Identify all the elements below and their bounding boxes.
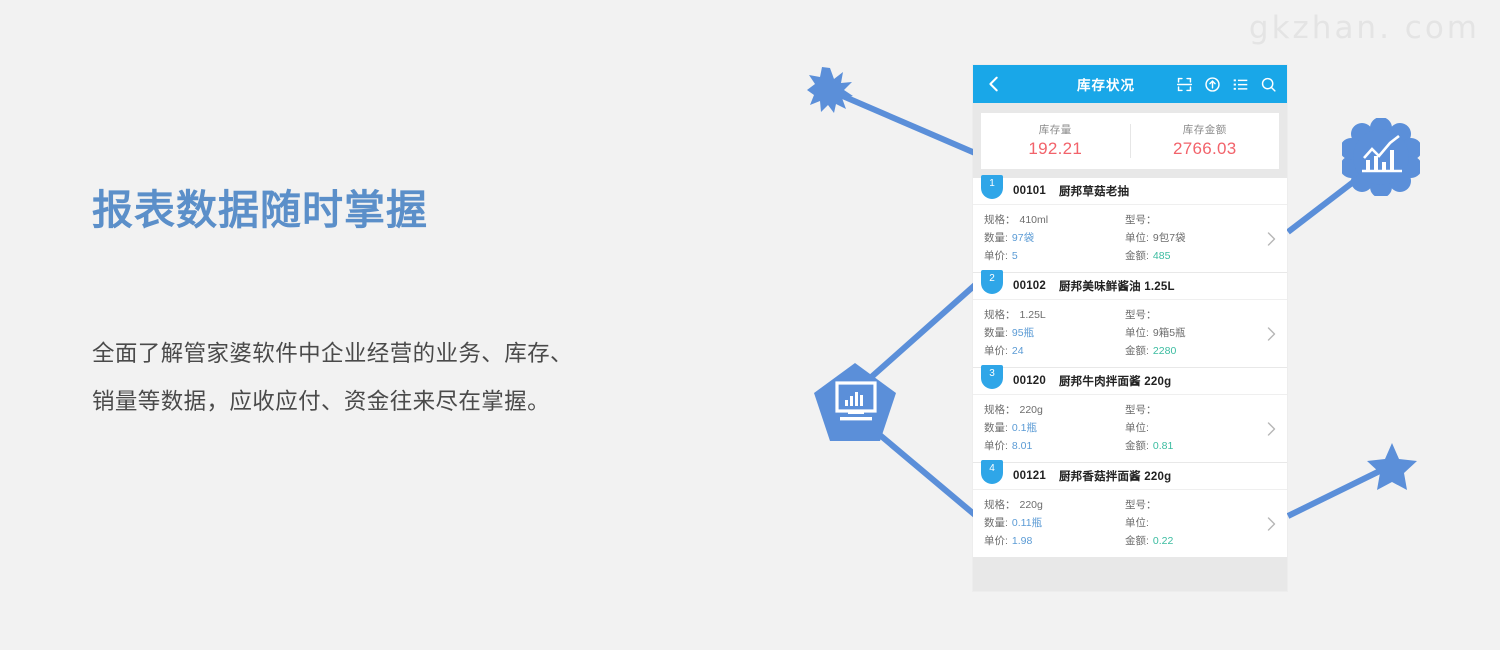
field-amount: 金额: 0.81 xyxy=(1125,437,1255,455)
star-icon xyxy=(1366,440,1418,492)
item-code: 00120 xyxy=(1013,375,1046,387)
scan-icon[interactable] xyxy=(1176,76,1193,93)
field-label: 单位: xyxy=(1125,419,1149,437)
index-badge: 1 xyxy=(981,175,1003,199)
field-value: 0.11瓶 xyxy=(1012,514,1042,532)
field-value: 1.98 xyxy=(1012,532,1032,550)
index-badge: 4 xyxy=(981,460,1003,484)
item-name: 厨邦香菇拌面酱 220g xyxy=(1059,468,1171,484)
chevron-right-icon[interactable] xyxy=(1267,327,1276,341)
field-label: 金额: xyxy=(1125,532,1149,550)
monitor-chart-icon xyxy=(814,363,896,443)
field-spec: 规格： 410ml xyxy=(973,211,1125,229)
field-label: 数量: xyxy=(984,229,1008,247)
field-model: 型号： xyxy=(1125,306,1255,324)
flower-badge xyxy=(1342,118,1420,196)
field-unit: 单位: 9包7袋 xyxy=(1125,229,1255,247)
field-value: 410ml xyxy=(1020,211,1049,229)
summary-cell-amount: 库存金额 2766.03 xyxy=(1131,123,1280,160)
inventory-list: 1 00101 厨邦草菇老抽 规格： 410ml 型号： xyxy=(973,178,1287,557)
field-value: 0.22 xyxy=(1153,532,1173,550)
list-item[interactable]: 1 00101 厨邦草菇老抽 规格： 410ml 型号： xyxy=(973,178,1287,272)
field-label: 单价: xyxy=(984,247,1008,265)
field-label: 规格： xyxy=(984,211,1016,229)
field-value: 9包7袋 xyxy=(1153,229,1186,247)
field-qty: 数量: 95瓶 xyxy=(973,324,1125,342)
list-item-header: 4 00121 厨邦香菇拌面酱 220g xyxy=(973,463,1287,490)
search-icon[interactable] xyxy=(1260,76,1277,93)
field-unit: 单位: 9箱5瓶 xyxy=(1125,324,1255,342)
line-bar-chart-icon xyxy=(1342,118,1420,196)
phone-mockup: 库存状况 xyxy=(973,65,1287,591)
headline: 报表数据随时掌握 xyxy=(92,186,652,235)
field-value: 24 xyxy=(1012,342,1024,360)
field-label: 单价: xyxy=(984,342,1008,360)
field-unit: 单位: xyxy=(1125,514,1255,532)
list-item-header: 3 00120 厨邦牛肉拌面酱 220g xyxy=(973,368,1287,395)
pentagon-badge xyxy=(814,363,896,443)
field-value: 220g xyxy=(1020,496,1043,514)
field-label: 规格： xyxy=(984,401,1016,419)
item-name: 厨邦牛肉拌面酱 220g xyxy=(1059,373,1171,389)
field-label: 金额: xyxy=(1125,247,1149,265)
index-badge: 2 xyxy=(981,270,1003,294)
app-header: 库存状况 xyxy=(973,65,1287,103)
field-value: 97袋 xyxy=(1012,229,1034,247)
field-value: 0.1瓶 xyxy=(1012,419,1037,437)
field-value: 220g xyxy=(1020,401,1043,419)
detail-row: 数量: 0.11瓶 单位: xyxy=(973,514,1287,532)
field-label: 单位: xyxy=(1125,229,1149,247)
marketing-copy: 报表数据随时掌握 全面了解管家婆软件中企业经营的业务、库存、销量等数据，应收应付… xyxy=(92,186,652,235)
list-item-body: 规格： 220g 型号： 数量: 0.11瓶 xyxy=(973,490,1287,557)
detail-row: 单价: 1.98 金额: 0.22 xyxy=(973,532,1287,550)
field-spec: 规格： 220g xyxy=(973,401,1125,419)
field-model: 型号： xyxy=(1125,401,1255,419)
field-qty: 数量: 0.11瓶 xyxy=(973,514,1125,532)
summary-value: 192.21 xyxy=(981,138,1130,160)
field-value: 8.01 xyxy=(1012,437,1032,455)
field-label: 单价: xyxy=(984,532,1008,550)
item-name: 厨邦草菇老抽 xyxy=(1059,183,1129,199)
connector-line-1 xyxy=(838,94,975,153)
field-label: 数量: xyxy=(984,324,1008,342)
field-price: 单价: 1.98 xyxy=(973,532,1125,550)
field-value: 485 xyxy=(1153,247,1171,265)
list-item-body: 规格： 410ml 型号： 数量: 97袋 xyxy=(973,205,1287,272)
summary-cell-qty: 库存量 192.21 xyxy=(981,123,1130,160)
field-label: 数量: xyxy=(984,514,1008,532)
detail-row: 单价: 8.01 金额: 0.81 xyxy=(973,437,1287,455)
detail-row: 单价: 5 金额: 485 xyxy=(973,247,1287,265)
item-code: 00121 xyxy=(1013,470,1046,482)
field-value: 0.81 xyxy=(1153,437,1173,455)
starburst-icon xyxy=(806,66,854,114)
star-badge xyxy=(1366,440,1418,492)
field-value: 5 xyxy=(1012,247,1018,265)
field-label: 型号： xyxy=(1125,401,1157,419)
summary-label: 库存量 xyxy=(981,123,1130,138)
field-amount: 金额: 485 xyxy=(1125,247,1255,265)
field-spec: 规格： 1.25L xyxy=(973,306,1125,324)
detail-row: 数量: 0.1瓶 单位: xyxy=(973,419,1287,437)
field-label: 型号： xyxy=(1125,496,1157,514)
list-item-header: 2 00102 厨邦美味鲜酱油 1.25L xyxy=(973,273,1287,300)
back-button[interactable] xyxy=(983,73,1005,95)
list-item-body: 规格： 1.25L 型号： 数量: 95瓶 xyxy=(973,300,1287,367)
field-label: 金额: xyxy=(1125,342,1149,360)
field-spec: 规格： 220g xyxy=(973,496,1125,514)
field-model: 型号： xyxy=(1125,496,1255,514)
field-qty: 数量: 0.1瓶 xyxy=(973,419,1125,437)
header-actions xyxy=(1176,76,1277,93)
field-label: 单位: xyxy=(1125,324,1149,342)
detail-row: 数量: 97袋 单位: 9包7袋 xyxy=(973,229,1287,247)
summary-value: 2766.03 xyxy=(1131,138,1280,160)
field-value: 1.25L xyxy=(1020,306,1046,324)
field-label: 单价: xyxy=(984,437,1008,455)
field-price: 单价: 8.01 xyxy=(973,437,1125,455)
item-code: 00101 xyxy=(1013,185,1046,197)
upload-circle-icon[interactable] xyxy=(1204,76,1221,93)
field-label: 型号： xyxy=(1125,211,1157,229)
field-label: 规格： xyxy=(984,306,1016,324)
summary-label: 库存金额 xyxy=(1131,123,1280,138)
index-badge: 3 xyxy=(981,365,1003,389)
field-label: 型号： xyxy=(1125,306,1157,324)
field-model: 型号： xyxy=(1125,211,1255,229)
detail-row: 规格： 410ml 型号： xyxy=(973,211,1287,229)
detail-row: 单价: 24 金额: 2280 xyxy=(973,342,1287,360)
chevron-right-icon[interactable] xyxy=(1267,517,1276,531)
chevron-left-icon xyxy=(984,74,1004,94)
chevron-right-icon[interactable] xyxy=(1267,422,1276,436)
burst-badge xyxy=(806,66,854,114)
list-item[interactable]: 3 00120 厨邦牛肉拌面酱 220g 规格： 220g 型号： xyxy=(973,368,1287,462)
detail-row: 规格： 220g 型号： xyxy=(973,496,1287,514)
summary-card: 库存量 192.21 库存金额 2766.03 xyxy=(981,113,1279,169)
app-title: 库存状况 xyxy=(1077,74,1135,94)
list-icon[interactable] xyxy=(1232,76,1249,93)
chevron-right-icon[interactable] xyxy=(1267,232,1276,246)
field-amount: 金额: 2280 xyxy=(1125,342,1255,360)
field-label: 规格： xyxy=(984,496,1016,514)
field-qty: 数量: 97袋 xyxy=(973,229,1125,247)
field-label: 单位: xyxy=(1125,514,1149,532)
field-price: 单价: 24 xyxy=(973,342,1125,360)
detail-row: 规格： 220g 型号： xyxy=(973,401,1287,419)
field-value: 2280 xyxy=(1153,342,1176,360)
list-item-header: 1 00101 厨邦草菇老抽 xyxy=(973,178,1287,205)
field-value: 95瓶 xyxy=(1012,324,1034,342)
field-price: 单价: 5 xyxy=(973,247,1125,265)
detail-row: 数量: 95瓶 单位: 9箱5瓶 xyxy=(973,324,1287,342)
list-item-body: 规格： 220g 型号： 数量: 0.1瓶 xyxy=(973,395,1287,462)
item-code: 00102 xyxy=(1013,280,1046,292)
body-copy: 全面了解管家婆软件中企业经营的业务、库存、销量等数据，应收应付、资金往来尽在掌握… xyxy=(92,330,592,426)
list-item[interactable]: 4 00121 厨邦香菇拌面酱 220g 规格： 220g 型号： xyxy=(973,463,1287,557)
promo-banner: gkzhan. com 报表数据随时掌握 全面了解管家婆软件中企业经营的业务、库… xyxy=(0,0,1500,650)
detail-row: 规格： 1.25L 型号： xyxy=(973,306,1287,324)
field-value: 9箱5瓶 xyxy=(1153,324,1186,342)
item-name: 厨邦美味鲜酱油 1.25L xyxy=(1059,278,1175,294)
field-label: 金额: xyxy=(1125,437,1149,455)
watermark: gkzhan. com xyxy=(1249,10,1480,46)
field-label: 数量: xyxy=(984,419,1008,437)
list-item[interactable]: 2 00102 厨邦美味鲜酱油 1.25L 规格： 1.25L 型号： xyxy=(973,273,1287,367)
field-amount: 金额: 0.22 xyxy=(1125,532,1255,550)
field-unit: 单位: xyxy=(1125,419,1255,437)
